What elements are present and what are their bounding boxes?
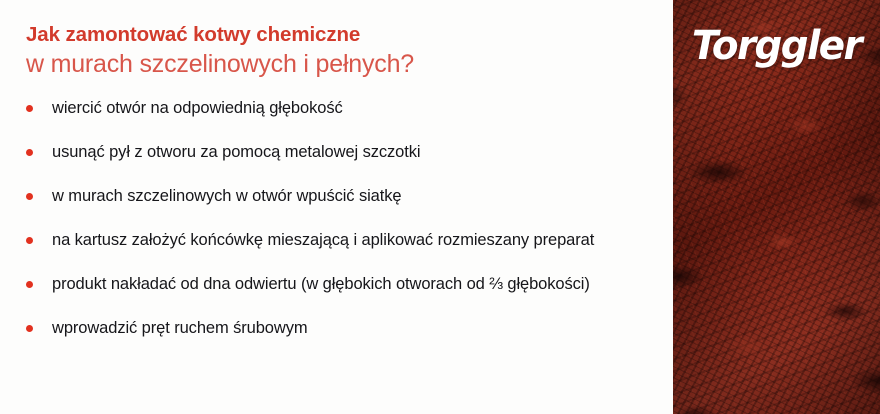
- list-item: wprowadzić pręt ruchem śrubowym: [26, 314, 663, 342]
- list-item-label: na kartusz założyć końcówkę mieszającą i…: [52, 226, 663, 254]
- bullet-dot-icon: [26, 325, 33, 332]
- page-title: Jak zamontować kotwy chemiczne w murach …: [26, 22, 663, 80]
- bullet-dot-icon: [26, 237, 33, 244]
- headline-line-2: w murach szczelinowych i pełnych?: [26, 48, 663, 80]
- list-item: w murach szczelinowych w otwór wpuścić s…: [26, 182, 663, 210]
- list-item: produkt nakładać od dna odwiertu (w głęb…: [26, 270, 663, 298]
- bullet-dot-icon: [26, 149, 33, 156]
- bullet-dot-icon: [26, 105, 33, 112]
- instruction-step-list: wiercić otwór na odpowiednią głębokość u…: [26, 94, 663, 342]
- list-item: usunąć pył z otworu za pomocą metalowej …: [26, 138, 663, 166]
- content-column: Jak zamontować kotwy chemiczne w murach …: [0, 0, 673, 414]
- list-item-label: usunąć pył z otworu za pomocą metalowej …: [52, 138, 663, 166]
- bullet-dot-icon: [26, 281, 33, 288]
- headline-line-1: Jak zamontować kotwy chemiczne: [26, 22, 663, 48]
- list-item-label: wprowadzić pręt ruchem śrubowym: [52, 314, 663, 342]
- list-item-label: wiercić otwór na odpowiednią głębokość: [52, 94, 663, 122]
- list-item-label: produkt nakładać od dna odwiertu (w głęb…: [52, 270, 663, 298]
- slide-root: Jak zamontować kotwy chemiczne w murach …: [0, 0, 880, 414]
- list-item: na kartusz założyć końcówkę mieszającą i…: [26, 226, 663, 254]
- torggler-logo: Torggler: [676, 22, 877, 70]
- bullet-dot-icon: [26, 193, 33, 200]
- list-item-label: w murach szczelinowych w otwór wpuścić s…: [52, 182, 663, 210]
- brand-image-panel: Torggler: [673, 0, 880, 414]
- list-item: wiercić otwór na odpowiednią głębokość: [26, 94, 663, 122]
